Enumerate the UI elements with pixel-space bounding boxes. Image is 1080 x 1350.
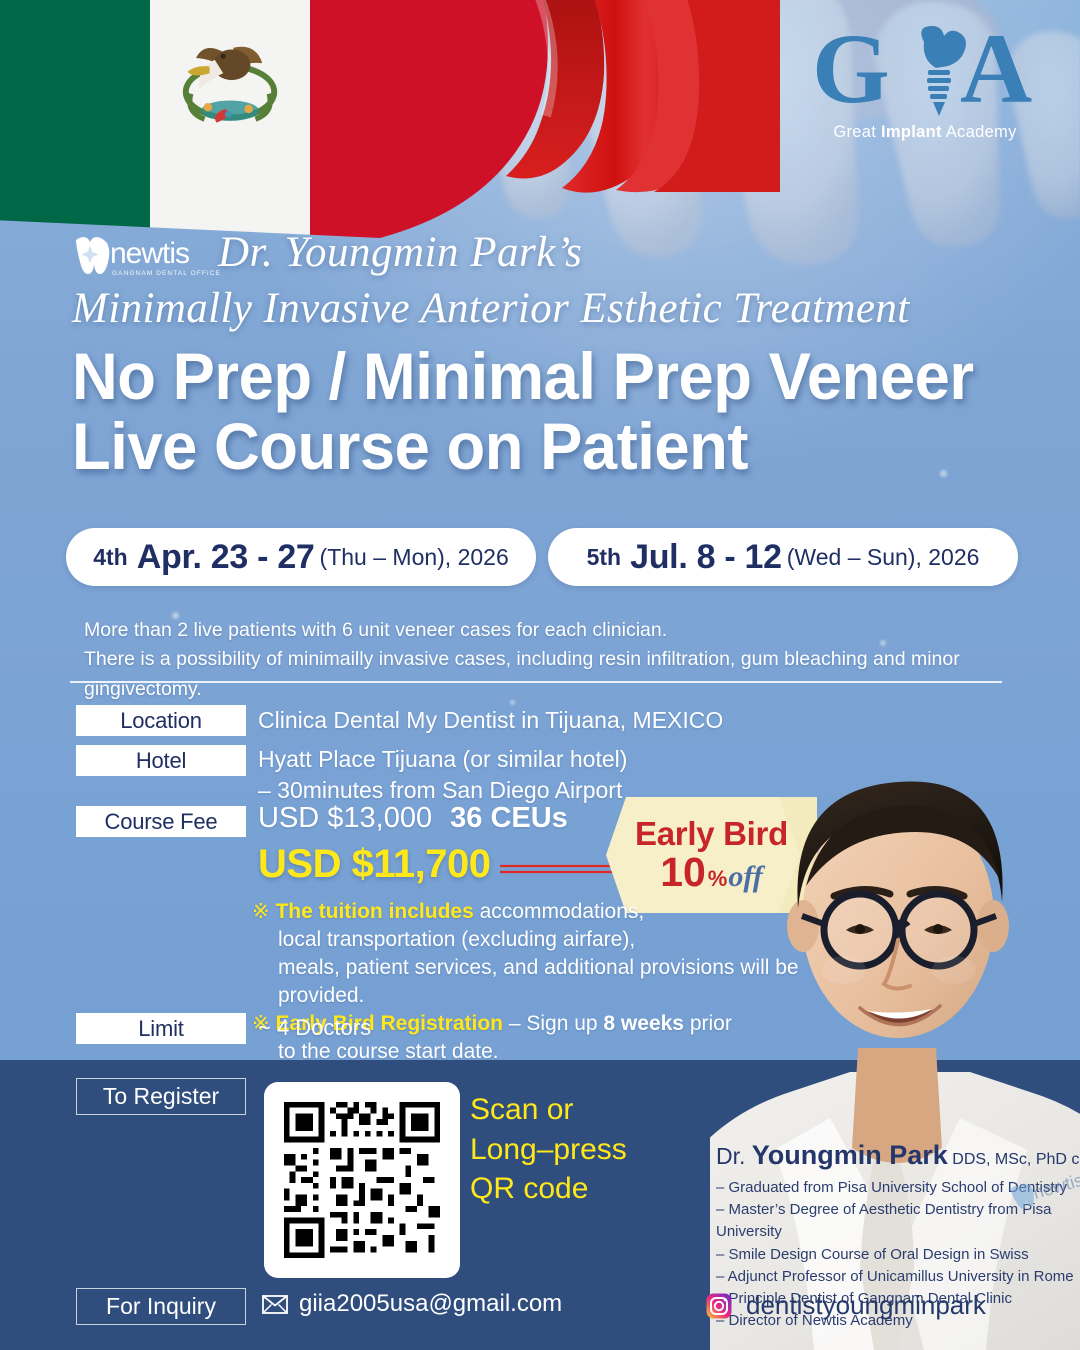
note-line-1: More than 2 live patients with 6 unit ve…	[84, 616, 1024, 645]
scan-line-2: Long–press	[470, 1130, 627, 1170]
qr-code[interactable]	[264, 1082, 460, 1278]
session-dates: Jul. 8 - 12	[630, 538, 782, 577]
instagram-handle: dentistyoungminpark	[746, 1290, 986, 1321]
tuition-includes-rest: accommodations,	[474, 900, 644, 923]
limit-value: ~ 4 Doctors	[258, 1013, 371, 1042]
presenter-name: Dr. Youngmin Park’s	[218, 228, 582, 277]
hotel-line-2: – 30minutes from San Diego Airport	[258, 775, 627, 806]
session-dates: Apr. 23 - 27	[137, 538, 315, 577]
badge-amount: 10	[660, 852, 706, 893]
tooth-icon	[76, 237, 109, 274]
session-days: (Thu – Mon), 2026	[320, 544, 509, 571]
svg-text:newtis: newtis	[110, 237, 189, 270]
scan-line-3: QR code	[470, 1169, 627, 1209]
session-days: (Wed – Sun), 2026	[787, 544, 980, 571]
ceu-credits: 36 CEUs	[450, 802, 568, 834]
location-value: Clinica Dental My Dentist in Tijuana, ME…	[258, 705, 723, 736]
gia-logo: G A Great Implant Academy	[810, 22, 1040, 141]
svg-text:GANGNAM DENTAL OFFICE: GANGNAM DENTAL OFFICE	[112, 270, 220, 277]
session-ordinal: 4th	[93, 544, 128, 571]
scan-instructions: Scan or Long–press QR code	[470, 1090, 627, 1209]
session-badge-1[interactable]: 4th Apr. 23 - 27 (Thu – Mon), 2026	[66, 528, 536, 586]
credential-item: – Smile Design Course of Oral Design in …	[716, 1244, 1080, 1266]
hotel-value: Hyatt Place Tijuana (or similar hotel) –…	[258, 744, 627, 805]
earlybird-mid: – Sign up	[503, 1012, 603, 1035]
hotel-label: Hotel	[76, 745, 246, 776]
hotel-line-1: Hyatt Place Tijuana (or similar hotel)	[258, 744, 627, 775]
note-mark-icon: ※	[252, 900, 270, 923]
fee-discounted-price: USD $11,700	[258, 842, 490, 887]
earlybird-weeks: 8 weeks	[603, 1012, 684, 1035]
course-fee-label: Course Fee	[76, 806, 246, 837]
envelope-icon	[262, 1295, 288, 1314]
location-label: Location	[76, 705, 246, 736]
email-contact[interactable]: giia2005usa@gmail.com	[262, 1290, 562, 1318]
instagram-icon	[706, 1293, 732, 1319]
doctor-name-prefix: Dr.	[716, 1143, 752, 1169]
note-line-2: There is a possibility of minimailly inv…	[84, 645, 1024, 704]
email-address: giia2005usa@gmail.com	[299, 1290, 562, 1318]
for-inquiry-label: For Inquiry	[76, 1288, 246, 1325]
doctor-name: Dr. Youngmin Park DDS, MSc, PhD candidat…	[716, 1140, 1080, 1171]
fee-regular-price: USD $13,000	[258, 802, 432, 834]
title-line-1: No Prep / Minimal Prep Veneer	[72, 342, 994, 412]
course-fee-regular-row: USD $13,00036 CEUs	[258, 802, 568, 835]
gia-tagline: Great Implant Academy	[810, 124, 1040, 141]
newtis-logo: newtis GANGNAM DENTAL OFFICE	[70, 232, 220, 282]
gia-logo-mark: G A	[810, 22, 1040, 118]
course-subtitle: Minimally Invasive Anterior Esthetic Tre…	[72, 284, 910, 333]
poster-root: G A Great Implant Academy	[0, 0, 1080, 1350]
credential-item: – Adjunct Professor of Unicamillus Unive…	[716, 1266, 1080, 1288]
page-title: No Prep / Minimal Prep Veneer Live Cours…	[72, 342, 994, 482]
instagram-contact[interactable]: dentistyoungminpark	[706, 1290, 986, 1321]
scan-line-1: Scan or	[470, 1090, 627, 1130]
limit-label: Limit	[76, 1013, 246, 1044]
svg-text:newtis: newtis	[1031, 1170, 1080, 1203]
course-notes: More than 2 live patients with 6 unit ve…	[84, 616, 1024, 704]
title-line-2: Live Course on Patient	[72, 412, 994, 482]
session-ordinal: 5th	[587, 544, 622, 571]
to-register-label: To Register	[76, 1078, 246, 1115]
section-divider	[70, 681, 1002, 683]
qr-code-icon	[278, 1096, 446, 1264]
svg-text:G: G	[812, 22, 890, 118]
session-badge-2[interactable]: 5th Jul. 8 - 12 (Wed – Sun), 2026	[548, 528, 1018, 586]
svg-text:A: A	[960, 22, 1032, 118]
doctor-name-main: Youngmin Park	[752, 1140, 948, 1170]
tuition-includes-label: The tuition includes	[275, 900, 473, 923]
doctor-degrees: DDS, MSc, PhD candidate	[948, 1151, 1080, 1168]
